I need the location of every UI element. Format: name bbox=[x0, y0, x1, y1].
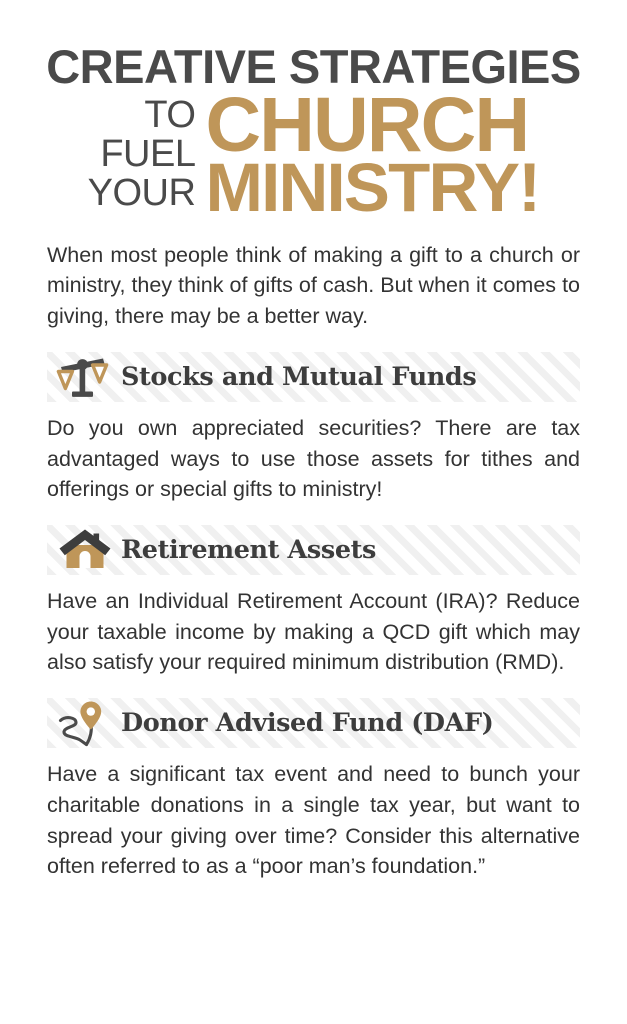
section-title-retirement: Retirement Assets bbox=[121, 535, 376, 565]
section-header-daf: Donor Advised Fund (DAF) bbox=[47, 698, 580, 748]
headline-compound: TO FUEL YOUR CHURCH MINISTRY! bbox=[22, 92, 605, 218]
headline-word-ministry: MINISTRY! bbox=[205, 158, 539, 217]
section-retirement-assets: Retirement Assets Have an Individual Ret… bbox=[0, 525, 627, 678]
section-body-stocks: Do you own appreciated securities? There… bbox=[47, 413, 580, 505]
section-stocks-and-mutual-funds: Stocks and Mutual Funds Do you own appre… bbox=[0, 352, 627, 505]
headline-connector-words: TO FUEL YOUR bbox=[88, 92, 206, 212]
title-block: CREATIVE STRATEGIES TO FUEL YOUR CHURCH … bbox=[0, 0, 627, 218]
infographic-page: CREATIVE STRATEGIES TO FUEL YOUR CHURCH … bbox=[0, 0, 627, 1024]
section-title-stocks: Stocks and Mutual Funds bbox=[121, 362, 476, 392]
headline-accent-words: CHURCH MINISTRY! bbox=[205, 92, 539, 218]
section-title-daf: Donor Advised Fund (DAF) bbox=[121, 708, 493, 738]
section-body-daf: Have a significant tax event and need to… bbox=[47, 759, 580, 882]
section-donor-advised-fund: Donor Advised Fund (DAF) Have a signific… bbox=[0, 698, 627, 882]
scales-of-justice-icon bbox=[49, 352, 121, 402]
headline-primary: CREATIVE STRATEGIES bbox=[22, 44, 605, 90]
headline-word-your: YOUR bbox=[88, 174, 196, 213]
section-body-retirement: Have an Individual Retirement Account (I… bbox=[47, 586, 580, 678]
headline-word-fuel: FUEL bbox=[100, 135, 195, 174]
section-header-retirement: Retirement Assets bbox=[47, 525, 580, 575]
section-header-stocks: Stocks and Mutual Funds bbox=[47, 352, 580, 402]
house-icon bbox=[49, 525, 121, 575]
headline-word-to: TO bbox=[144, 96, 195, 135]
intro-paragraph: When most people think of making a gift … bbox=[47, 240, 580, 332]
road-map-pin-icon bbox=[49, 698, 121, 748]
